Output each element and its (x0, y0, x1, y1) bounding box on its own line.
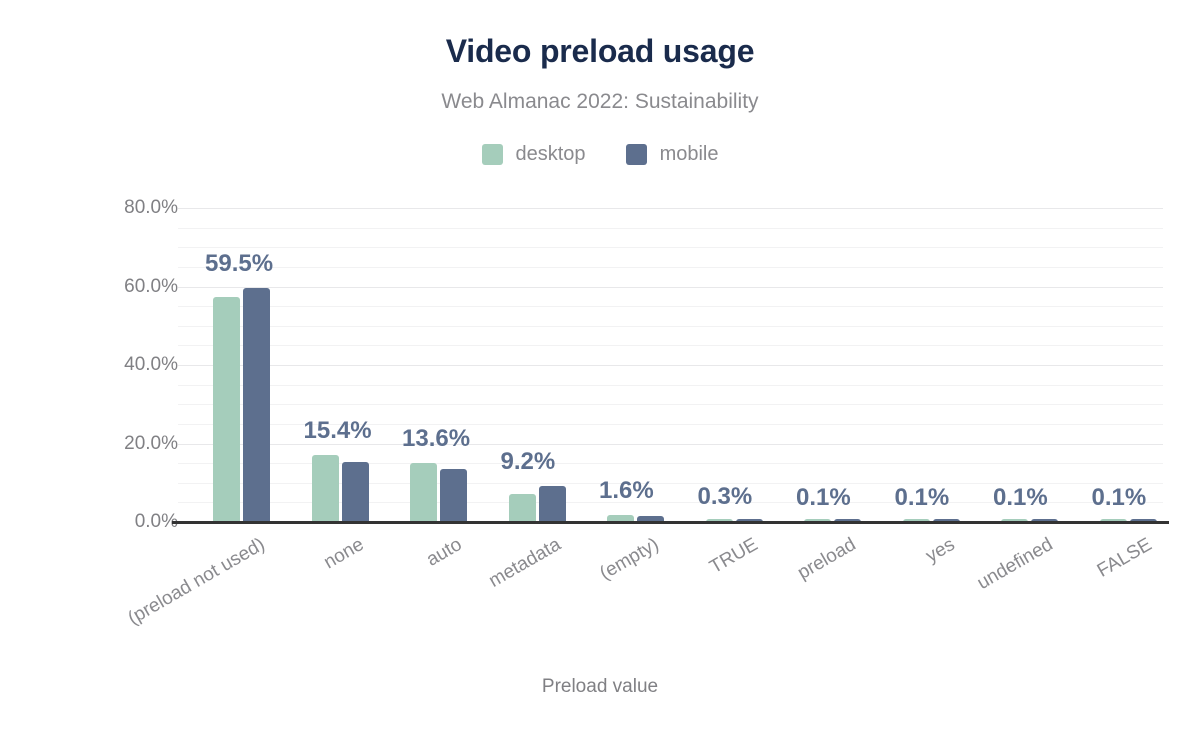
x-axis-label: none (320, 534, 368, 574)
x-axis-label: (preload not used) (124, 534, 269, 630)
plot-area: 59.5%15.4%13.6%9.2%1.6%0.3%0.1%0.1%0.1%0… (178, 208, 1163, 522)
bar-group (1089, 208, 1169, 522)
x-axis-baseline (172, 521, 1169, 524)
chart-title: Video preload usage (0, 33, 1200, 70)
x-axis-label: auto (423, 534, 466, 572)
bar-group (399, 208, 479, 522)
bar-group (596, 208, 676, 522)
bar-value-label: 13.6% (402, 425, 470, 453)
chart-legend: desktopmobile (0, 143, 1200, 166)
bar-value-label: 0.1% (796, 484, 851, 512)
legend-label-desktop: desktop (516, 143, 586, 166)
y-tick-label: 0.0% (58, 511, 178, 533)
bar-group (695, 208, 775, 522)
bar-desktop[interactable] (312, 455, 339, 522)
y-tick-label: 60.0% (58, 276, 178, 298)
x-axis-label: (empty) (596, 534, 663, 585)
bar-value-label: 0.1% (993, 484, 1048, 512)
bar-mobile[interactable] (440, 469, 467, 522)
bar-mobile[interactable] (243, 288, 270, 522)
y-axis-title: % of videos (0, 267, 6, 365)
bar-value-label: 59.5% (205, 250, 273, 278)
x-axis-label: yes (922, 534, 959, 568)
bar-value-label: 0.1% (1092, 484, 1147, 512)
bar-value-label: 15.4% (304, 417, 372, 445)
y-tick-label: 40.0% (58, 354, 178, 376)
chart-subtitle: Web Almanac 2022: Sustainability (0, 90, 1200, 114)
bar-group (793, 208, 873, 522)
bar-group (990, 208, 1070, 522)
bar-desktop[interactable] (509, 494, 536, 522)
legend-item-desktop[interactable]: desktop (482, 143, 586, 166)
x-axis-label: undefined (974, 534, 1057, 595)
bar-group (301, 208, 381, 522)
bar-value-label: 0.1% (895, 484, 950, 512)
bar-value-label: 9.2% (501, 448, 556, 476)
y-tick-label: 80.0% (58, 197, 178, 219)
x-axis-title: Preload value (0, 676, 1200, 698)
x-axis-label: preload (794, 534, 860, 585)
bar-value-label: 1.6% (599, 477, 654, 505)
bar-value-label: 0.3% (698, 483, 753, 511)
chart-container: Video preload usage Web Almanac 2022: Su… (0, 0, 1200, 742)
x-axis-label: FALSE (1093, 534, 1155, 583)
x-axis-label: TRUE (706, 534, 762, 579)
x-axis-label: metadata (485, 534, 565, 593)
y-tick-label: 20.0% (58, 433, 178, 455)
legend-label-mobile: mobile (660, 143, 719, 166)
legend-swatch-desktop (482, 144, 503, 165)
bar-mobile[interactable] (342, 462, 369, 522)
bar-desktop[interactable] (410, 463, 437, 522)
legend-swatch-mobile (626, 144, 647, 165)
bar-group (892, 208, 972, 522)
bar-mobile[interactable] (539, 486, 566, 522)
bar-desktop[interactable] (213, 297, 240, 522)
legend-item-mobile[interactable]: mobile (626, 143, 719, 166)
